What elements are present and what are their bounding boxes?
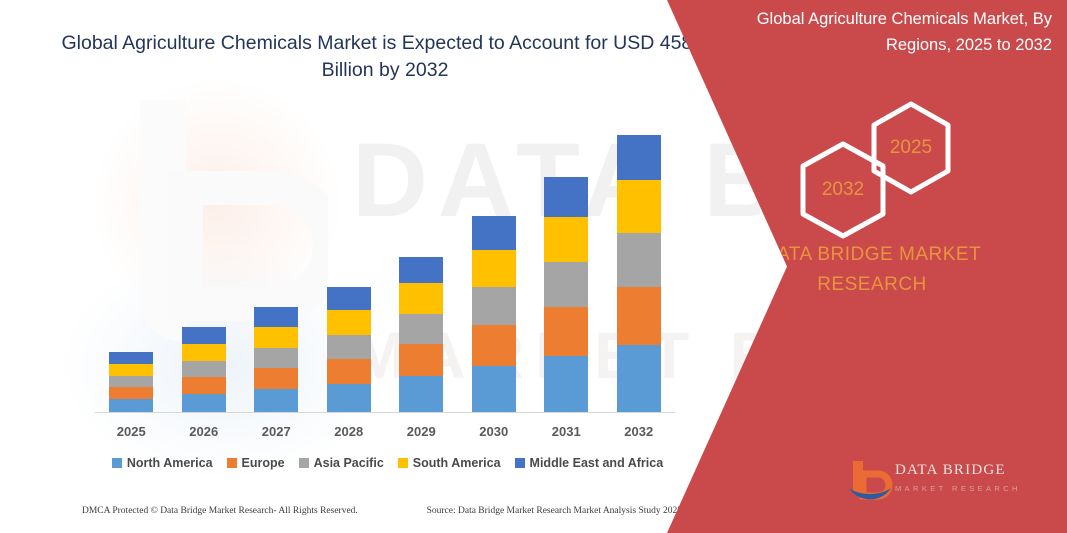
x-axis-line: [95, 412, 675, 413]
bar-segment: [617, 233, 661, 287]
bar-segment: [617, 180, 661, 233]
bar-stack: [617, 135, 661, 412]
hexagon-2025-label: 2025: [890, 137, 932, 159]
legend-swatch: [112, 458, 122, 468]
bar-segment: [254, 389, 298, 412]
bar-segment: [109, 387, 153, 399]
bar-segment: [182, 327, 226, 344]
footer: DMCA Protected © Data Bridge Market Rese…: [82, 506, 682, 516]
infographic-page: DATA BRIDGE MARKET RESEARCH Global Agric…: [0, 0, 1067, 533]
bar-segment: [544, 356, 588, 412]
legend-item[interactable]: Europe: [227, 456, 285, 470]
branding-panel-title: Global Agriculture Chemicals Market, By …: [707, 6, 1052, 58]
hexagon-badge-2032: 2032: [795, 140, 891, 240]
footer-dmca-text: DMCA Protected © Data Bridge Market Rese…: [82, 506, 358, 516]
bar-segment: [327, 310, 371, 335]
bar-segment: [254, 307, 298, 327]
footer-source-text: Source: Data Bridge Market Research Mark…: [427, 506, 682, 516]
bar-segment: [617, 345, 661, 412]
x-axis-tick-label: 2030: [459, 424, 529, 439]
legend-label: Middle East and Africa: [530, 456, 664, 470]
bar-segment: [182, 394, 226, 412]
legend-swatch: [299, 458, 309, 468]
bar-segment: [544, 177, 588, 217]
bar-segment: [544, 307, 588, 356]
logo-wordmark: DATA BRIDGE: [895, 462, 1045, 479]
bar-stack: [327, 287, 371, 412]
bar-segment: [254, 348, 298, 368]
bar-segment: [617, 287, 661, 345]
brand-name: DATA BRIDGE MARKET RESEARCH: [727, 240, 1017, 300]
bar-segment: [254, 327, 298, 348]
bar-segment: [182, 344, 226, 361]
bar-segment: [254, 368, 298, 389]
bar-segment: [472, 250, 516, 287]
bar-segment: [109, 352, 153, 364]
bar-segment: [544, 262, 588, 307]
x-axis-tick-label: 2028: [314, 424, 384, 439]
bar-segment: [399, 314, 443, 344]
legend-item[interactable]: Asia Pacific: [299, 456, 384, 470]
bar-segment: [472, 366, 516, 412]
bar-segment: [182, 377, 226, 394]
legend-item[interactable]: South America: [398, 456, 501, 470]
bar-stack: [182, 327, 226, 412]
x-axis-tick-label: 2026: [169, 424, 239, 439]
x-axis-tick-label: 2031: [531, 424, 601, 439]
chart-title: Global Agriculture Chemicals Market is E…: [60, 30, 710, 84]
company-logo: DATA BRIDGE MARKET RESEARCH: [847, 458, 1037, 506]
bar-segment: [472, 216, 516, 250]
x-axis-tick-label: 2025: [96, 424, 166, 439]
bar-segment: [399, 257, 443, 283]
chart-legend: North AmericaEuropeAsia PacificSouth Ame…: [95, 456, 680, 470]
bar-segment: [327, 359, 371, 384]
hexagon-2032-label: 2032: [822, 179, 864, 201]
bar-segment: [327, 287, 371, 310]
legend-label: South America: [413, 456, 501, 470]
logo-mark-icon: [847, 458, 893, 504]
logo-tagline: MARKET RESEARCH: [895, 484, 1045, 493]
bar-segment: [399, 283, 443, 314]
bar-segment: [182, 361, 226, 377]
legend-swatch: [398, 458, 408, 468]
bar-segment: [327, 384, 371, 412]
bar-stack: [254, 307, 298, 412]
legend-label: North America: [127, 456, 213, 470]
bar-segment: [472, 287, 516, 325]
x-axis-labels: 20252026202720282029203020312032: [95, 424, 675, 444]
bar-segment: [544, 217, 588, 262]
legend-label: Asia Pacific: [314, 456, 384, 470]
x-axis-tick-label: 2029: [386, 424, 456, 439]
x-axis-tick-label: 2032: [604, 424, 674, 439]
bar-segment: [109, 399, 153, 412]
bar-stack: [472, 216, 516, 412]
legend-swatch: [227, 458, 237, 468]
bar-segment: [399, 376, 443, 412]
bar-segment: [109, 376, 153, 387]
bar-stack: [109, 352, 153, 412]
bar-stack: [399, 257, 443, 412]
legend-label: Europe: [242, 456, 285, 470]
chart-panel: DATA BRIDGE MARKET RESEARCH Global Agric…: [0, 0, 760, 533]
bar-segment: [109, 364, 153, 376]
x-axis-tick-label: 2027: [241, 424, 311, 439]
bar-segment: [617, 135, 661, 180]
legend-item[interactable]: North America: [112, 456, 213, 470]
bar-stack: [544, 177, 588, 412]
legend-item[interactable]: Middle East and Africa: [515, 456, 664, 470]
stacked-bar-chart: [95, 110, 675, 413]
bar-segment: [327, 335, 371, 359]
legend-swatch: [515, 458, 525, 468]
bar-segment: [399, 344, 443, 376]
bar-segment: [472, 325, 516, 366]
